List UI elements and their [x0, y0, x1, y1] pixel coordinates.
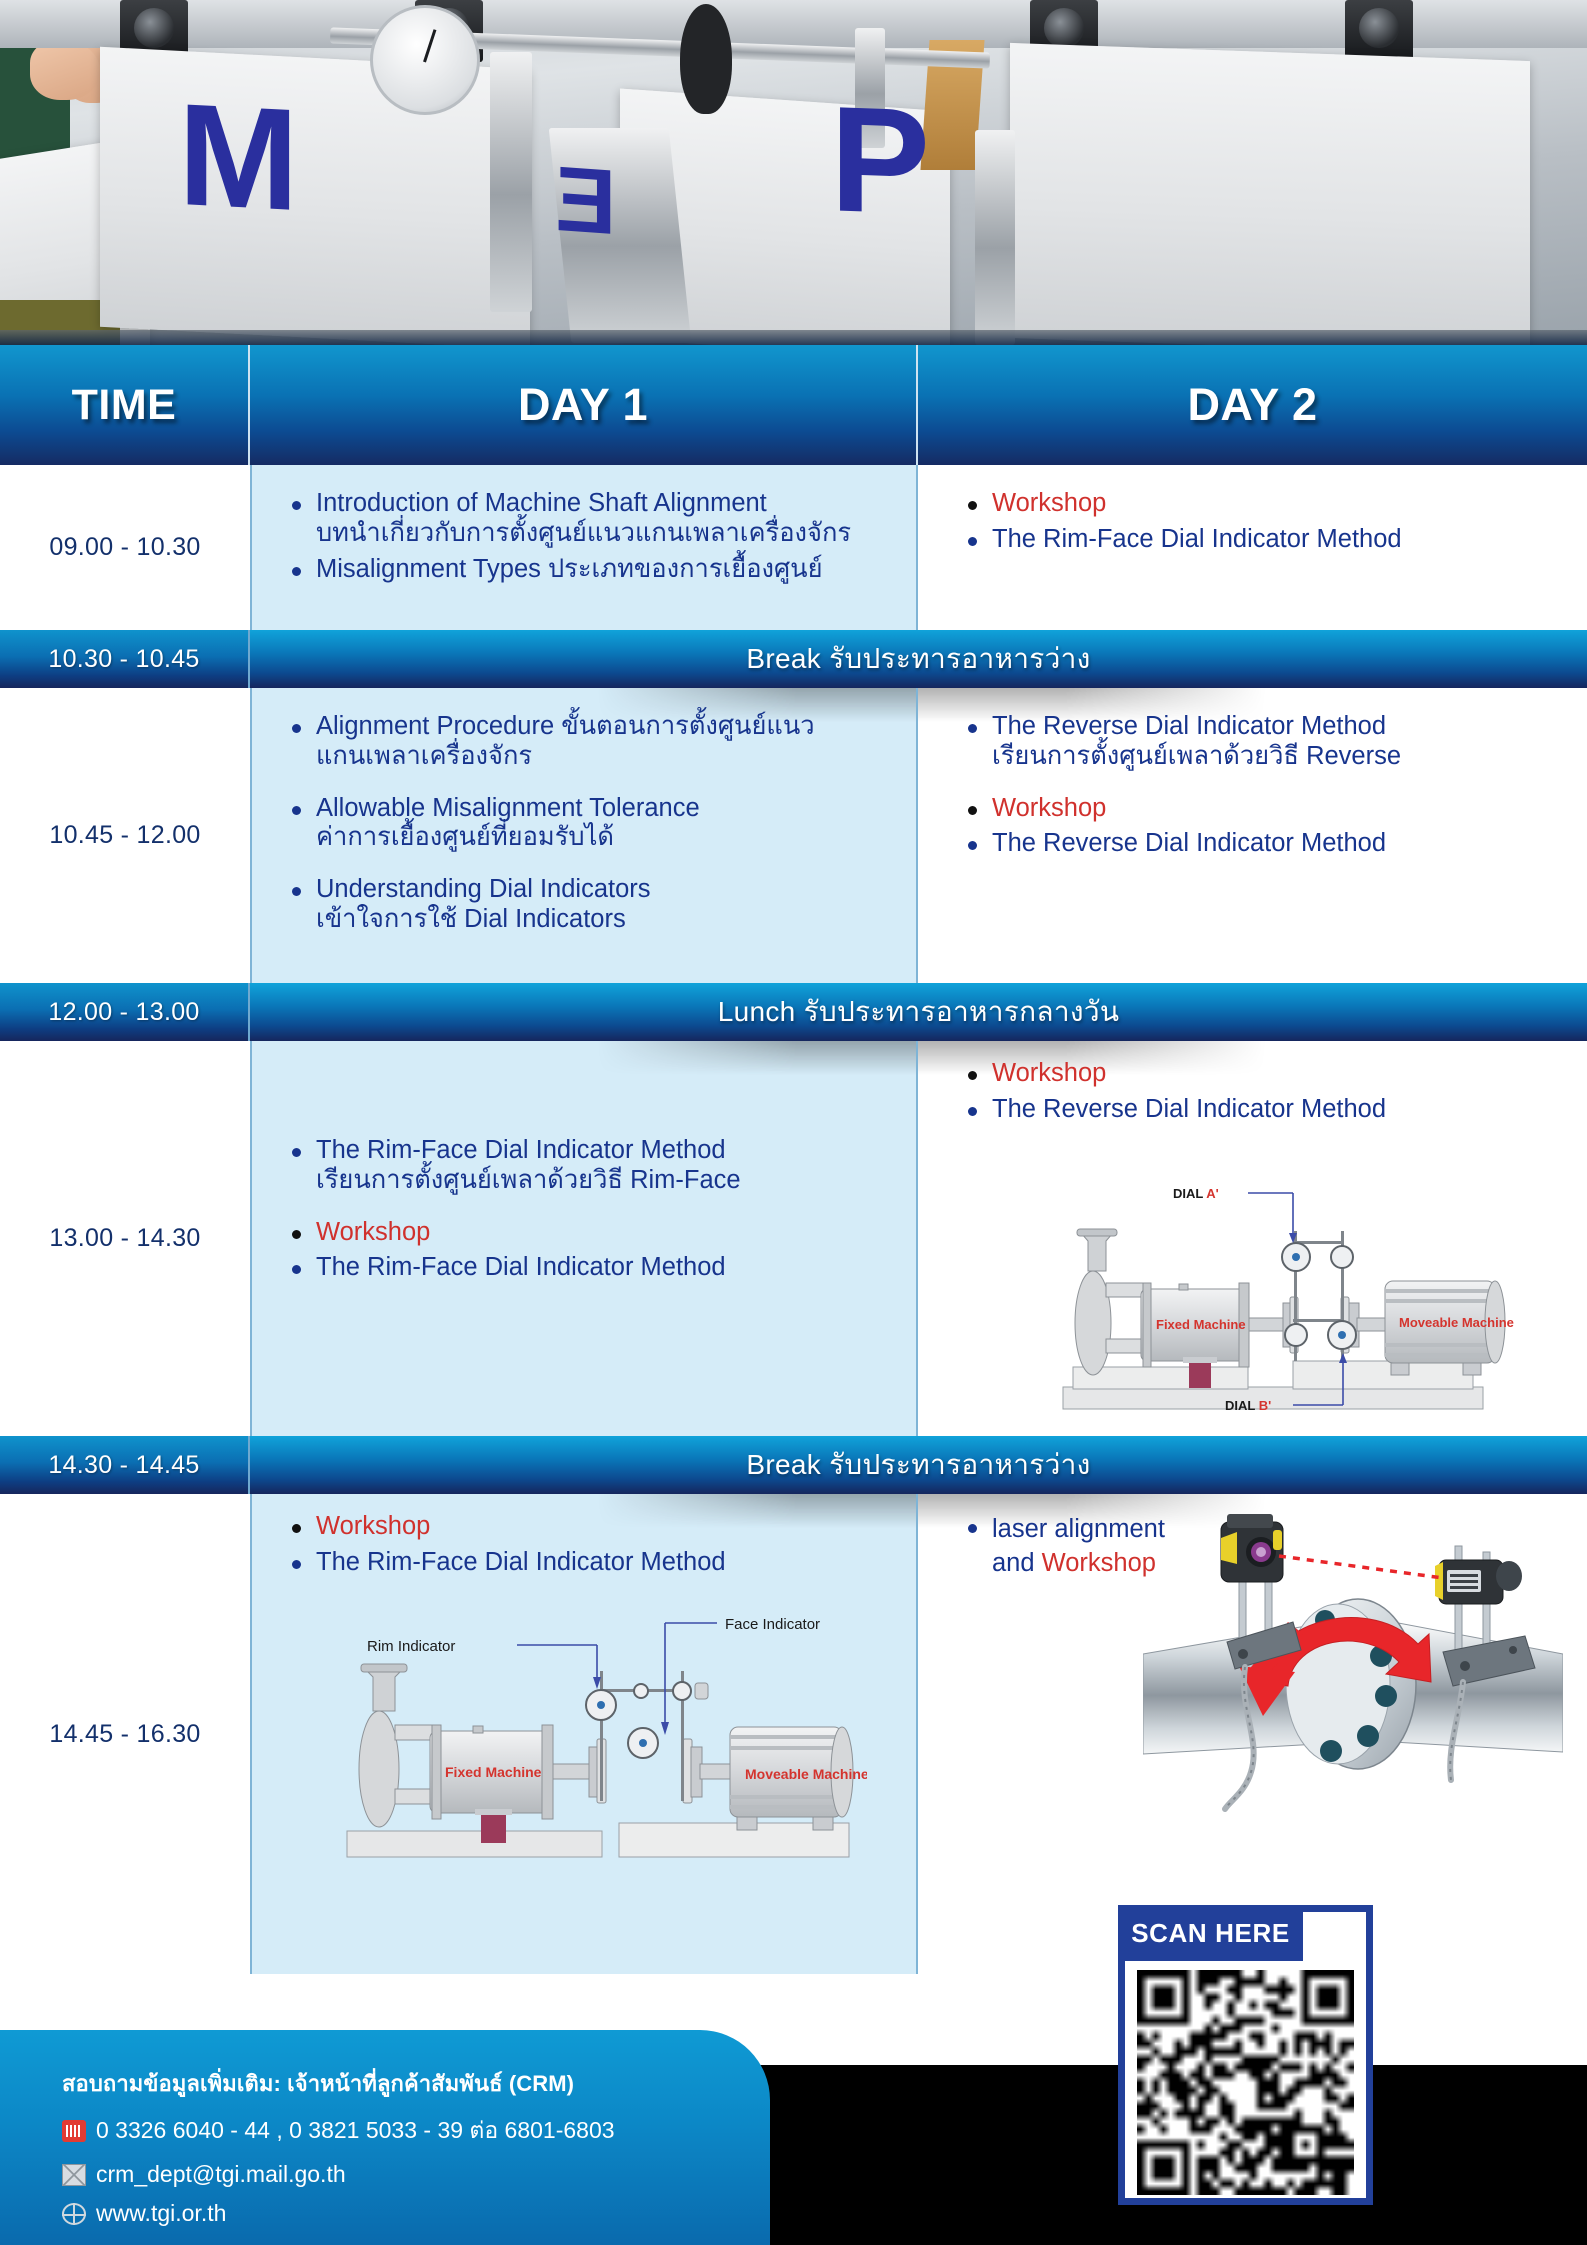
item-en: The Rim-Face Dial Indicator Method: [316, 1548, 726, 1576]
list-item: Workshop: [286, 1218, 898, 1248]
svg-text:Moveable Machine: Moveable Machine: [1399, 1315, 1514, 1330]
item-th: เรียนการตั้งศูนย์เพลาด้วยวิธี Rim-Face: [316, 1166, 898, 1196]
qr-code-panel[interactable]: SCAN HERE: [1118, 1905, 1373, 2205]
list-item: The Reverse Dial Indicator Method: [962, 1095, 1569, 1125]
row-time: 10.45 - 12.00: [0, 688, 250, 983]
row-day2-cell: Workshop The Rim-Face Dial Indicator Met…: [918, 465, 1587, 630]
svg-text:Fixed Machine: Fixed Machine: [445, 1764, 542, 1780]
item-th: เรียนการตั้งศูนย์เพลาด้วยวิธี Reverse: [992, 742, 1569, 772]
contact-website[interactable]: www.tgi.or.th: [96, 2200, 226, 2227]
band-label: Lunch รับประทารอาหารกลางวัน: [250, 983, 1587, 1041]
svg-text:Moveable Machine: Moveable Machine: [745, 1766, 867, 1782]
svg-text:Fixed Machine: Fixed Machine: [1156, 1317, 1246, 1332]
rim-face-dial-indicator-diagram: Fixed Machine Moveable Machine: [267, 1609, 867, 1869]
column-header-time-label: TIME: [72, 381, 177, 430]
svg-text:DIAL B': DIAL B': [1225, 1398, 1271, 1413]
row-time: 13.00 - 14.30: [0, 1041, 250, 1436]
item-en: Introduction of Machine Shaft Alignment: [316, 489, 767, 517]
list-item: The Rim-Face Dial Indicator Method: [286, 1253, 898, 1283]
item-en: laser alignment: [992, 1515, 1165, 1543]
break-band-row: 14.30 - 14.45 Break รับประทารอาหารว่าง: [0, 1436, 1587, 1494]
table-row: 09.00 - 10.30 Introduction of Machine Sh…: [0, 465, 1587, 630]
band-label: Break รับประทารอาหารว่าง: [250, 630, 1587, 688]
item-th: ค่าการเยื้องศูนย์ที่ยอมรับได้: [316, 823, 898, 853]
item-conjunction: and: [992, 1549, 1042, 1577]
item-th: บทนำเกี่ยวกับการตั้งศูนย์แนวแกนเพลาเครื่…: [316, 519, 898, 549]
header-photo: M E P: [0, 0, 1587, 345]
item-en: The Reverse Dial Indicator Method: [992, 712, 1386, 740]
schedule-table: TIME DAY 1 DAY 2 09.00 - 10.30 Introduct…: [0, 345, 1587, 1974]
dial-gauge-icon: [370, 5, 480, 115]
scan-here-tab: SCAN HERE: [1118, 1905, 1303, 1961]
table-row: 13.00 - 14.30 The Rim-Face Dial Indicato…: [0, 1041, 1587, 1436]
qr-code[interactable]: [1137, 1970, 1354, 2195]
list-item: Understanding Dial Indicators เข้าใจการใ…: [286, 875, 898, 935]
plate-letter-p: P: [830, 83, 930, 236]
plate-letter-e: E: [555, 153, 616, 249]
phone-icon: [62, 2120, 86, 2142]
list-item: The Rim-Face Dial Indicator Method เรียน…: [286, 1136, 898, 1196]
item-en: Allowable Misalignment Tolerance: [316, 794, 700, 822]
row-day2-cell: laser alignment and Workshop: [918, 1494, 1587, 1974]
scan-here-label: SCAN HERE: [1131, 1918, 1290, 1949]
row-day1-cell: Workshop The Rim-Face Dial Indicator Met…: [250, 1494, 918, 1974]
list-item: Workshop: [962, 489, 1569, 519]
contact-phone: 0 3326 6040 - 44 , 0 3821 5033 - 39 ต่อ …: [96, 2113, 615, 2149]
row-time: 12.00 - 13.00: [0, 983, 250, 1041]
svg-text:DIAL A': DIAL A': [1173, 1186, 1219, 1201]
poster-page: M E P TIME DAY 1 DAY 2 09.00 - 10.30: [0, 0, 1587, 2245]
break-band-row: 10.30 - 10.45 Break รับประทารอาหารว่าง: [0, 630, 1587, 688]
row-day2-cell: The Reverse Dial Indicator Method เรียนก…: [918, 688, 1587, 983]
list-item: The Reverse Dial Indicator Method: [962, 829, 1569, 859]
item-en: The Rim-Face Dial Indicator Method: [316, 1136, 726, 1164]
plate-letter-m: M: [178, 82, 299, 233]
lunch-band-row: 12.00 - 13.00 Lunch รับประทารอาหารกลางวั…: [0, 983, 1587, 1041]
envelope-icon: [62, 2164, 86, 2186]
row-time: 14.30 - 14.45: [0, 1436, 250, 1494]
item-th: เข้าใจการใช้ Dial Indicators: [316, 905, 898, 935]
contact-email[interactable]: crm_dept@tgi.mail.go.th: [96, 2161, 346, 2188]
list-item: Workshop: [286, 1512, 898, 1542]
list-item: Workshop: [962, 794, 1569, 824]
globe-icon: [62, 2203, 86, 2225]
item-en: Workshop: [316, 1218, 430, 1246]
band-label: Break รับประทารอาหารว่าง: [250, 1436, 1587, 1494]
svg-text:Face Indicator: Face Indicator: [725, 1616, 820, 1633]
row-day1-cell: Alignment Procedure ขั้นตอนการตั้งศูนย์แ…: [250, 688, 918, 983]
contact-footer: สอบถามข้อมูลเพิ่มเติม: เจ้าหน้าที่ลูกค้า…: [0, 2030, 770, 2245]
item-en: Understanding Dial Indicators: [316, 875, 651, 903]
item-th: แกนเพลาเครื่องจักร: [316, 742, 898, 772]
row-day1-cell: Introduction of Machine Shaft Alignment …: [250, 465, 918, 630]
column-header-day1: DAY 1: [250, 345, 918, 465]
row-day1-cell: The Rim-Face Dial Indicator Method เรียน…: [250, 1041, 918, 1436]
list-item: Misalignment Types ประเภทของการเยื้องศูน…: [286, 555, 898, 585]
item-en: The Rim-Face Dial Indicator Method: [316, 1253, 726, 1281]
list-item: Introduction of Machine Shaft Alignment …: [286, 489, 898, 549]
laser-alignment-diagram: [1143, 1504, 1563, 1834]
item-en: Alignment Procedure ขั้นตอนการตั้งศูนย์แ…: [316, 712, 815, 740]
table-row: 10.45 - 12.00 Alignment Procedure ขั้นตอ…: [0, 688, 1587, 983]
row-time: 14.45 - 16.30: [0, 1494, 250, 1974]
list-item: Workshop: [962, 1059, 1569, 1089]
item-en: Misalignment Types ประเภทของการเยื้องศูน…: [316, 555, 823, 583]
column-header-day2-label: DAY 2: [1187, 379, 1317, 431]
item-en: Workshop: [992, 794, 1106, 822]
contact-web-line: www.tgi.or.th: [0, 2200, 770, 2227]
item-en: Workshop: [992, 489, 1106, 517]
svg-text:Rim Indicator: Rim Indicator: [367, 1638, 455, 1655]
column-header-time: TIME: [0, 345, 250, 465]
item-en: The Reverse Dial Indicator Method: [992, 829, 1386, 857]
contact-phone-line: 0 3326 6040 - 44 , 0 3821 5033 - 39 ต่อ …: [0, 2113, 770, 2149]
list-item: The Rim-Face Dial Indicator Method: [286, 1548, 898, 1578]
list-item: Allowable Misalignment Tolerance ค่าการเ…: [286, 794, 898, 854]
list-item: The Reverse Dial Indicator Method เรียนก…: [962, 712, 1569, 772]
table-row: 14.45 - 16.30 Workshop The Rim-Face Dial…: [0, 1494, 1587, 1974]
row-day2-cell: Workshop The Reverse Dial Indicator Meth…: [918, 1041, 1587, 1436]
list-item: Alignment Procedure ขั้นตอนการตั้งศูนย์แ…: [286, 712, 898, 772]
list-item: The Rim-Face Dial Indicator Method: [962, 525, 1569, 555]
column-header-day2: DAY 2: [918, 345, 1587, 465]
contact-email-line: crm_dept@tgi.mail.go.th: [0, 2161, 770, 2188]
item-en: Workshop: [316, 1512, 430, 1540]
contact-title: สอบถามข้อมูลเพิ่มเติม: เจ้าหน้าที่ลูกค้า…: [0, 2030, 770, 2101]
row-time: 09.00 - 10.30: [0, 465, 250, 630]
item-en: The Reverse Dial Indicator Method: [992, 1095, 1386, 1123]
item-en: The Rim-Face Dial Indicator Method: [992, 525, 1402, 553]
table-header-row: TIME DAY 1 DAY 2: [0, 345, 1587, 465]
reverse-dial-indicator-diagram: Fixed Machine: [993, 1171, 1563, 1421]
item-en: Workshop: [992, 1059, 1106, 1087]
row-time: 10.30 - 10.45: [0, 630, 250, 688]
column-header-day1-label: DAY 1: [518, 379, 648, 431]
item-workshop: Workshop: [1042, 1549, 1156, 1577]
